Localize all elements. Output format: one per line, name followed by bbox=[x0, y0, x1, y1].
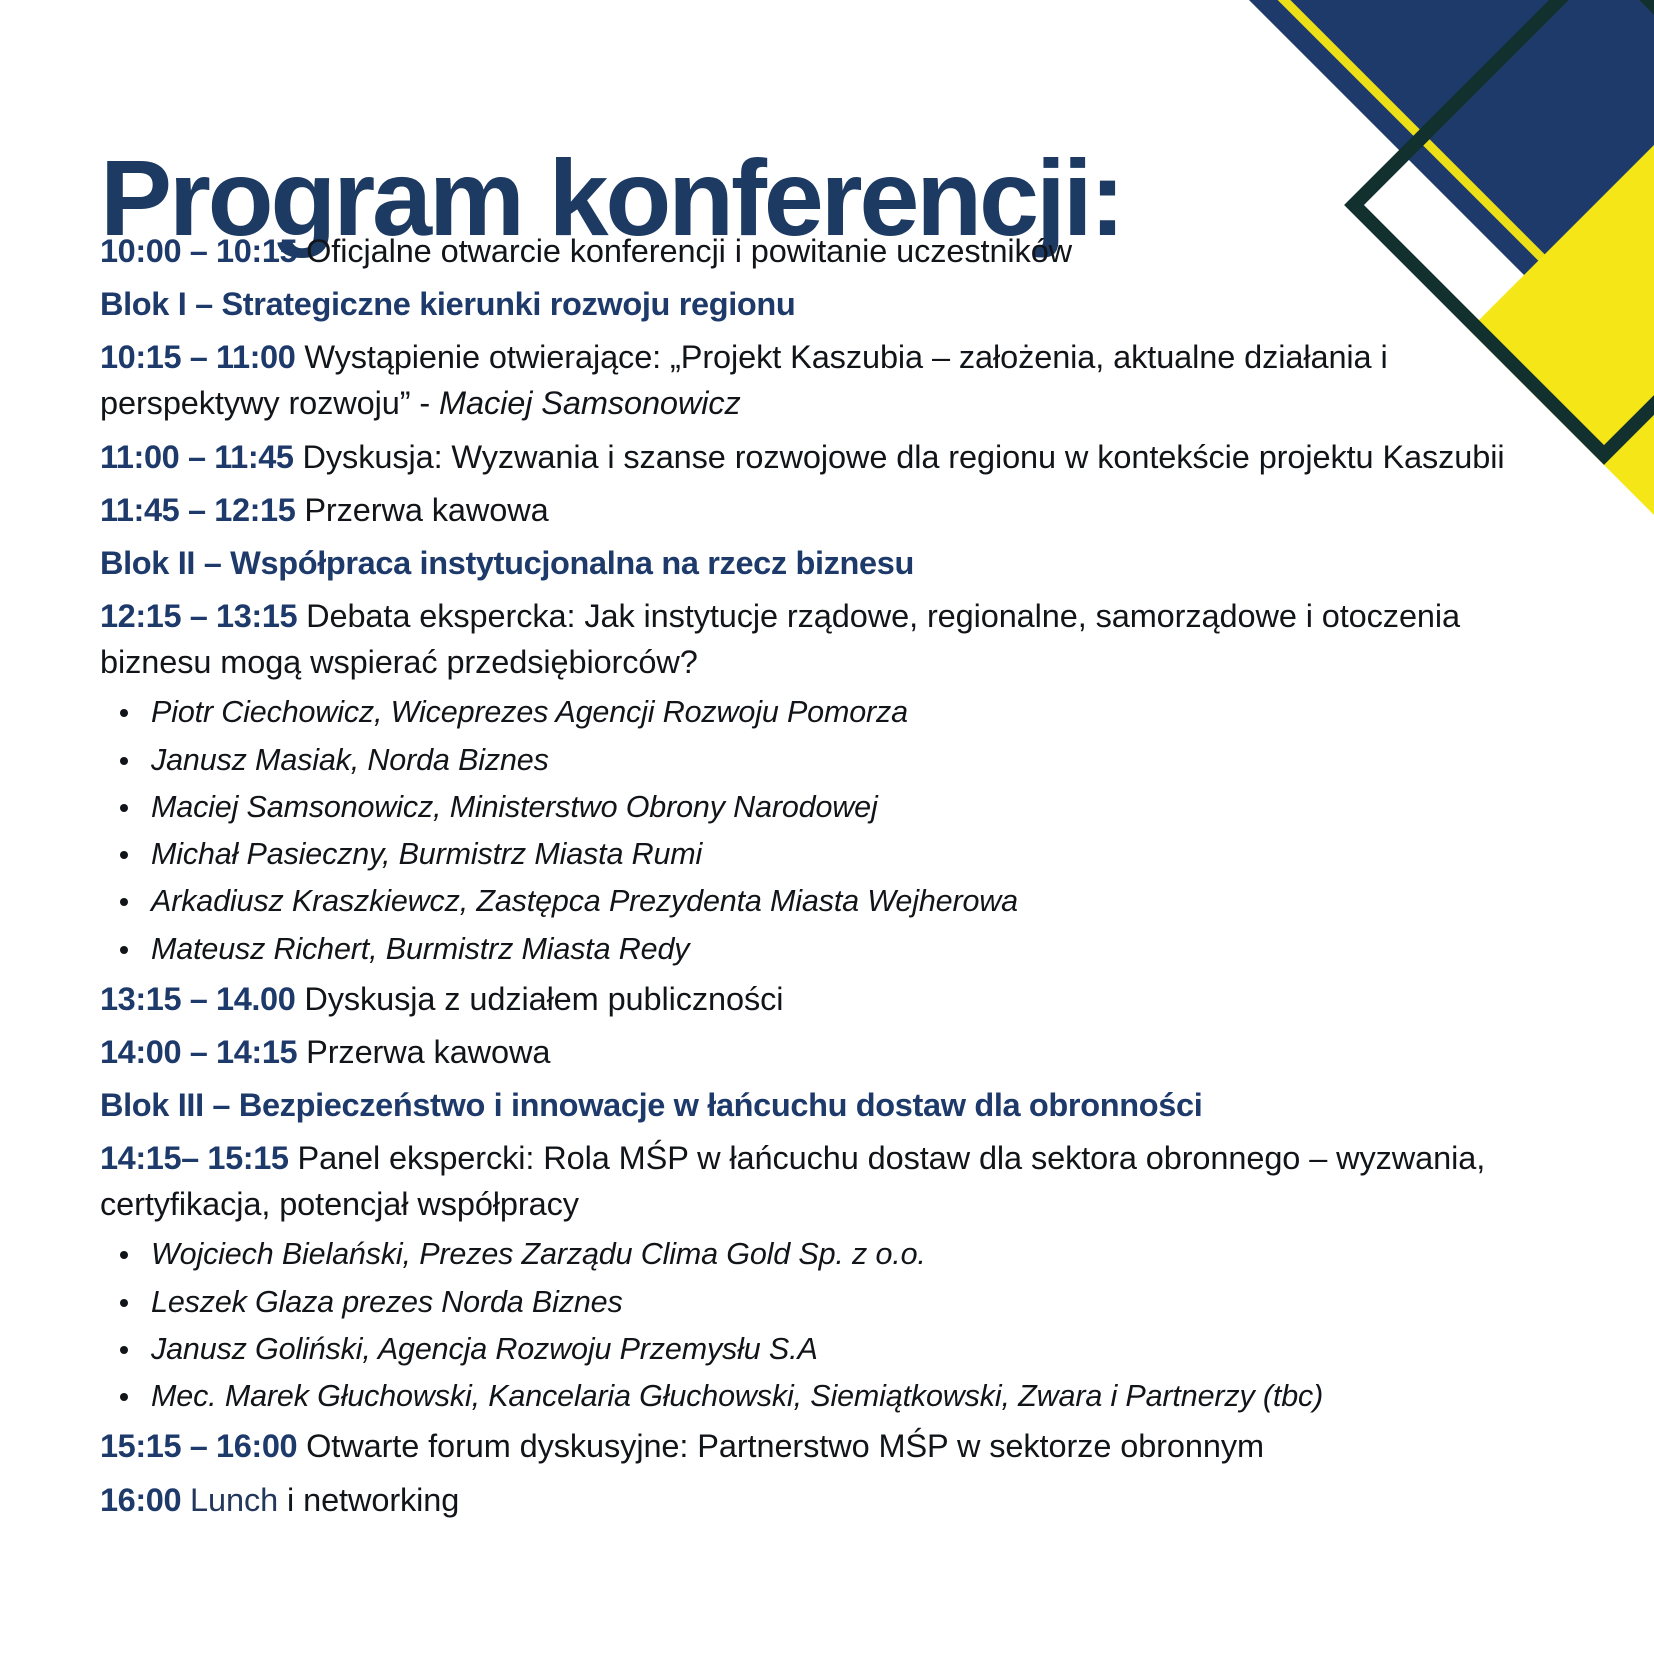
agenda-block-heading: Blok I – Strategiczne kierunki rozwoju r… bbox=[100, 281, 1530, 327]
list-item: Janusz Goliński, Agencja Rozwoju Przemys… bbox=[100, 1329, 1530, 1369]
agenda-block-heading: Blok II – Współpraca instytucjonalna na … bbox=[100, 540, 1530, 586]
list-item: Wojciech Bielański, Prezes Zarządu Clima… bbox=[100, 1234, 1530, 1274]
list-item: Maciej Samsonowicz, Ministerstwo Obrony … bbox=[100, 787, 1530, 827]
agenda-slot-description: Oficjalne otwarcie konferencji i powitan… bbox=[297, 233, 1072, 269]
agenda-slot-description: Przerwa kawowa bbox=[295, 492, 548, 528]
agenda-slot-description: Przerwa kawowa bbox=[297, 1034, 550, 1070]
agenda-slot-time: 14:15– 15:15 bbox=[100, 1140, 289, 1176]
page-content: Program konferencji: 10:00 – 10:15 Oficj… bbox=[0, 0, 1654, 1654]
agenda-list: 10:00 – 10:15 Oficjalne otwarcie konfere… bbox=[100, 228, 1530, 1530]
agenda-slot-time: 16:00 bbox=[100, 1482, 181, 1518]
agenda-slot-description: Dyskusja: Wyzwania i szanse rozwojowe dl… bbox=[294, 439, 1505, 475]
agenda-slot: 12:15 – 13:15 Debata ekspercka: Jak inst… bbox=[100, 593, 1530, 685]
list-item: Janusz Masiak, Norda Biznes bbox=[100, 740, 1530, 780]
agenda-slot-description: Dyskusja z udziałem publiczności bbox=[295, 981, 783, 1017]
agenda-slot: 14:15– 15:15 Panel ekspercki: Rola MŚP w… bbox=[100, 1135, 1530, 1227]
agenda-slot-time: 14:00 – 14:15 bbox=[100, 1034, 297, 1070]
agenda-slot-description: Panel ekspercki: Rola MŚP w łańcuchu dos… bbox=[100, 1140, 1485, 1222]
agenda-slot: 10:15 – 11:00 Wystąpienie otwierające: „… bbox=[100, 334, 1530, 426]
agenda-block-heading: Blok III – Bezpieczeństwo i innowacje w … bbox=[100, 1082, 1530, 1128]
agenda-slot: 13:15 – 14.00 Dyskusja z udziałem public… bbox=[100, 976, 1530, 1022]
list-item: Piotr Ciechowicz, Wiceprezes Agencji Roz… bbox=[100, 692, 1530, 732]
agenda-slot-time: 10:00 – 10:15 bbox=[100, 233, 297, 269]
agenda-slot-time: 12:15 – 13:15 bbox=[100, 598, 297, 634]
list-item: Mec. Marek Głuchowski, Kancelaria Głucho… bbox=[100, 1376, 1530, 1416]
agenda-slot-time: 13:15 – 14.00 bbox=[100, 981, 295, 1017]
agenda-slot: 16:00 Lunch i networking bbox=[100, 1477, 1530, 1523]
agenda-slot-time: 10:15 – 11:00 bbox=[100, 339, 295, 375]
agenda-slot: 14:00 – 14:15 Przerwa kawowa bbox=[100, 1029, 1530, 1075]
agenda-slot-highlight: Lunch bbox=[181, 1482, 278, 1518]
list-item: Leszek Glaza prezes Norda Biznes bbox=[100, 1282, 1530, 1322]
agenda-slot: 15:15 – 16:00 Otwarte forum dyskusyjne: … bbox=[100, 1423, 1530, 1469]
list-item: Arkadiusz Kraszkiewcz, Zastępca Prezyden… bbox=[100, 881, 1530, 921]
agenda-slot-description: Debata ekspercka: Jak instytucje rządowe… bbox=[100, 598, 1460, 680]
agenda-slot-time: 15:15 – 16:00 bbox=[100, 1428, 297, 1464]
agenda-slot-time: 11:00 – 11:45 bbox=[100, 439, 294, 475]
agenda-slot-description: i networking bbox=[278, 1482, 459, 1518]
agenda-slot: 10:00 – 10:15 Oficjalne otwarcie konfere… bbox=[100, 228, 1530, 274]
agenda-speaker-list: Piotr Ciechowicz, Wiceprezes Agencji Roz… bbox=[100, 692, 1530, 969]
agenda-slot-description: Otwarte forum dyskusyjne: Partnerstwo MŚ… bbox=[297, 1428, 1264, 1464]
agenda-speaker-list: Wojciech Bielański, Prezes Zarządu Clima… bbox=[100, 1234, 1530, 1416]
agenda-slot-time: 11:45 – 12:15 bbox=[100, 492, 295, 528]
list-item: Michał Pasieczny, Burmistrz Miasta Rumi bbox=[100, 834, 1530, 874]
agenda-slot-speaker: Maciej Samsonowicz bbox=[439, 385, 741, 421]
agenda-slot: 11:00 – 11:45 Dyskusja: Wyzwania i szans… bbox=[100, 434, 1530, 480]
agenda-slot: 11:45 – 12:15 Przerwa kawowa bbox=[100, 487, 1530, 533]
list-item: Mateusz Richert, Burmistrz Miasta Redy bbox=[100, 929, 1530, 969]
